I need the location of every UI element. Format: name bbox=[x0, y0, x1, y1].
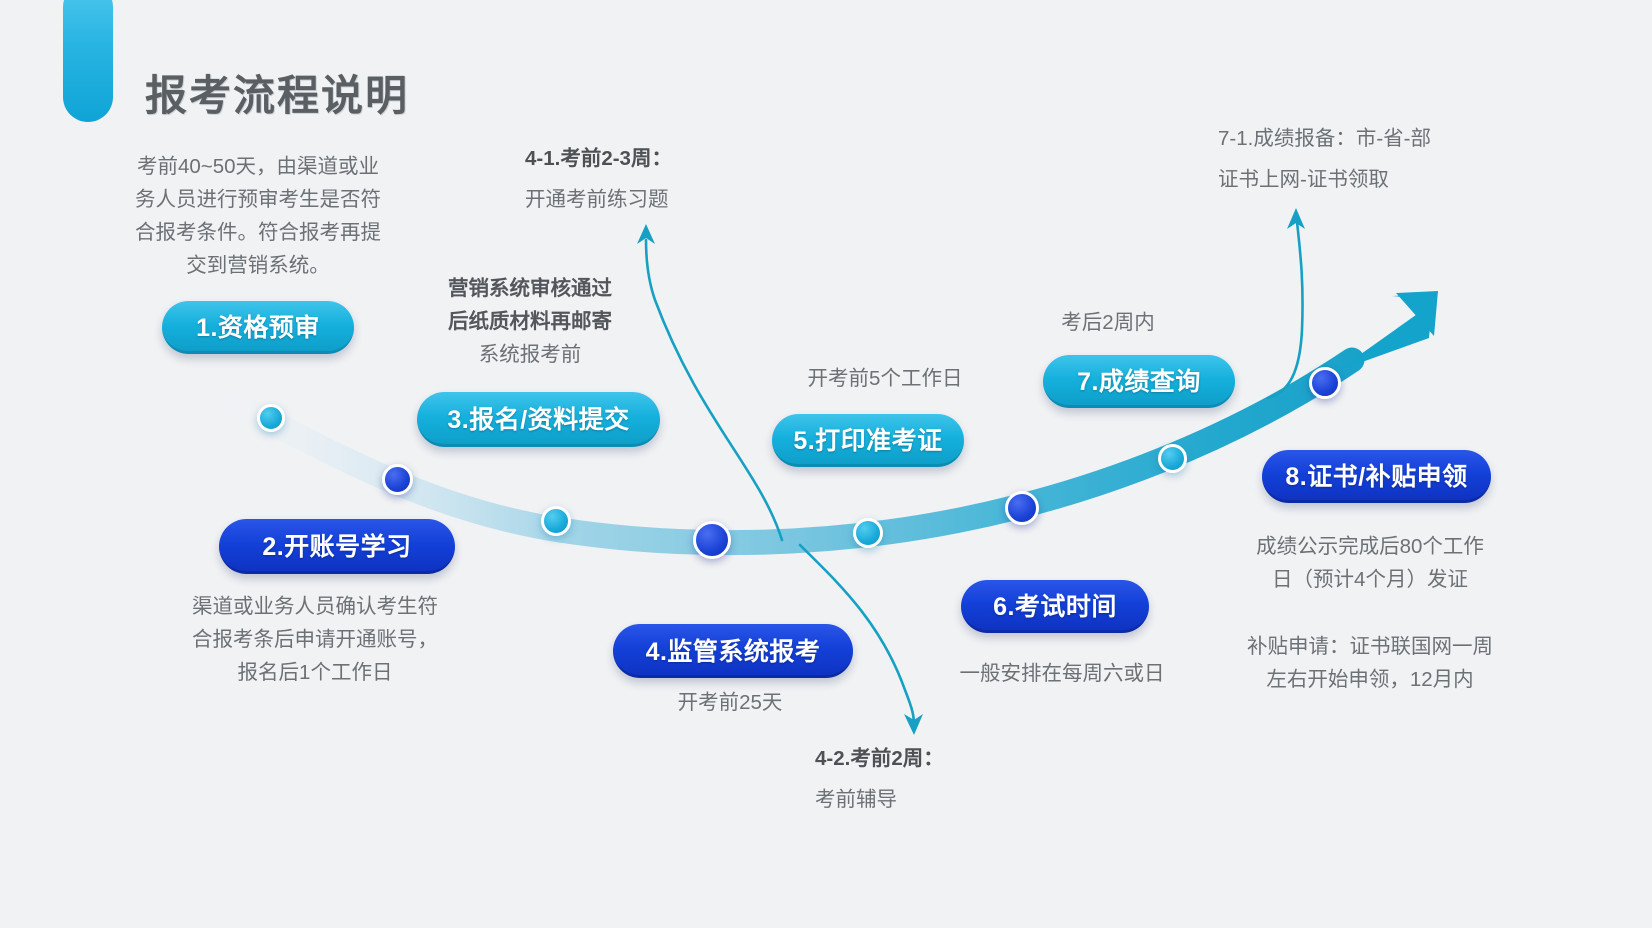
note-branch-7-1-line1: 7-1.成绩报备：市-省-部 bbox=[1218, 122, 1518, 155]
step-pill-6[interactable]: 6.考试时间 bbox=[961, 580, 1149, 633]
node-marker-1 bbox=[257, 404, 285, 432]
step-pill-3[interactable]: 3.报名/资料提交 bbox=[417, 392, 660, 447]
step-pill-7[interactable]: 7.成绩查询 bbox=[1043, 355, 1235, 408]
page-title: 报考流程说明 bbox=[145, 62, 409, 123]
step-pill-1[interactable]: 1.资格预审 bbox=[162, 301, 354, 354]
note-step-3-above-sub: 系统报考前 bbox=[405, 338, 655, 371]
note-step-4-below: 开考前25天 bbox=[610, 686, 850, 719]
note-step-3-above-bold: 营销系统审核通过 后纸质材料再邮寄 bbox=[405, 272, 655, 338]
note-step-8-below-1: 成绩公示完成后80个工作 日（预计4个月）发证 bbox=[1215, 530, 1525, 596]
note-step-1-above: 考前40~50天，由渠道或业 务人员进行预审考生是否符 合报考条件。符合报考再提… bbox=[108, 150, 408, 282]
note-branch-7-1-line2: 证书上网-证书领取 bbox=[1218, 163, 1518, 196]
note-branch-4-2-head: 4-2.考前2周： bbox=[815, 742, 1075, 775]
note-branch-4-1-head: 4-1.考前2-3周： bbox=[525, 142, 785, 175]
note-branch-4-1-sub: 开通考前练习题 bbox=[525, 183, 785, 216]
note-branch-4-2-sub: 考前辅导 bbox=[815, 783, 1075, 816]
step-pill-5[interactable]: 5.打印准考证 bbox=[772, 414, 964, 467]
note-step-6-below: 一般安排在每周六或日 bbox=[930, 657, 1194, 690]
branch-7-1-connector bbox=[1268, 208, 1305, 398]
step-pill-8[interactable]: 8.证书/补贴申领 bbox=[1262, 450, 1491, 503]
title-accent-bar bbox=[63, 0, 113, 122]
note-step-7-above: 考后2周内 bbox=[1013, 306, 1203, 339]
node-marker-6 bbox=[1005, 491, 1039, 525]
step-pill-4[interactable]: 4.监管系统报考 bbox=[613, 624, 853, 678]
note-step-2-below: 渠道或业务人员确认考生符 合报考条后申请开通账号， 报名后1个工作日 bbox=[160, 590, 470, 689]
note-step-8-below-2: 补贴申请：证书联国网一周 左右开始申领，12月内 bbox=[1215, 630, 1525, 696]
infographic-canvas: 报考流程说明 bbox=[0, 0, 1652, 928]
node-marker-4 bbox=[693, 521, 731, 559]
node-marker-3 bbox=[541, 506, 571, 536]
step-pill-2[interactable]: 2.开账号学习 bbox=[219, 519, 455, 574]
curve-arrowhead bbox=[1337, 291, 1438, 371]
node-marker-2 bbox=[382, 464, 413, 495]
note-step-5-above: 开考前5个工作日 bbox=[760, 362, 1010, 395]
node-marker-8 bbox=[1309, 367, 1341, 399]
node-marker-7 bbox=[1158, 444, 1187, 473]
node-marker-5 bbox=[853, 518, 883, 548]
